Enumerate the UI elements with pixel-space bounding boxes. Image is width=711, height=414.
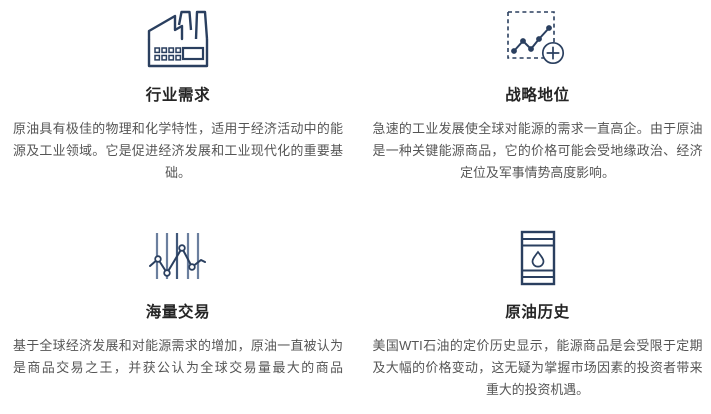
chart-add-icon — [505, 8, 571, 68]
oil-barrel-icon — [515, 229, 561, 287]
factory-icon — [139, 8, 217, 70]
feature-card-strategic-position: 战略地位 急速的工业发展使全球对能源的需求一直高企。由于原油是一种关键能源商品，… — [356, 0, 711, 207]
card-title: 战略地位 — [505, 87, 569, 106]
trading-volume-chart-icon — [147, 229, 209, 285]
card-title: 行业需求 — [146, 87, 210, 106]
card-body: 急速的工业发展使全球对能源的需求一直高企。由于原油是一种关键能源商品，它的价格可… — [373, 118, 703, 184]
feature-card-crude-oil-history: 原油历史 美国WTI石油的定价历史显示，能源商品是会受限于定期及大幅的价格变动，… — [356, 207, 711, 414]
card-body: 原油具有极佳的物理和化学特性，适用于经济活动中的能源及工业领域。它是促进经济发展… — [13, 118, 343, 184]
card-title: 原油历史 — [505, 304, 569, 323]
feature-card-industry-demand: 行业需求 原油具有极佳的物理和化学特性，适用于经济活动中的能源及工业领域。它是促… — [0, 0, 356, 207]
card-body: 基于全球经济发展和对能源需求的增加，原油一直被认为是商品交易之王，并获公认为全球… — [13, 335, 343, 379]
card-body: 美国WTI石油的定价历史显示，能源商品是会受限于定期及大幅的价格变动，这无疑为掌… — [373, 335, 703, 401]
feature-grid: 行业需求 原油具有极佳的物理和化学特性，适用于经济活动中的能源及工业领域。它是促… — [0, 0, 711, 414]
feature-card-massive-trading: 海量交易 基于全球经济发展和对能源需求的增加，原油一直被认为是商品交易之王，并获… — [0, 207, 356, 414]
card-title: 海量交易 — [146, 304, 210, 323]
